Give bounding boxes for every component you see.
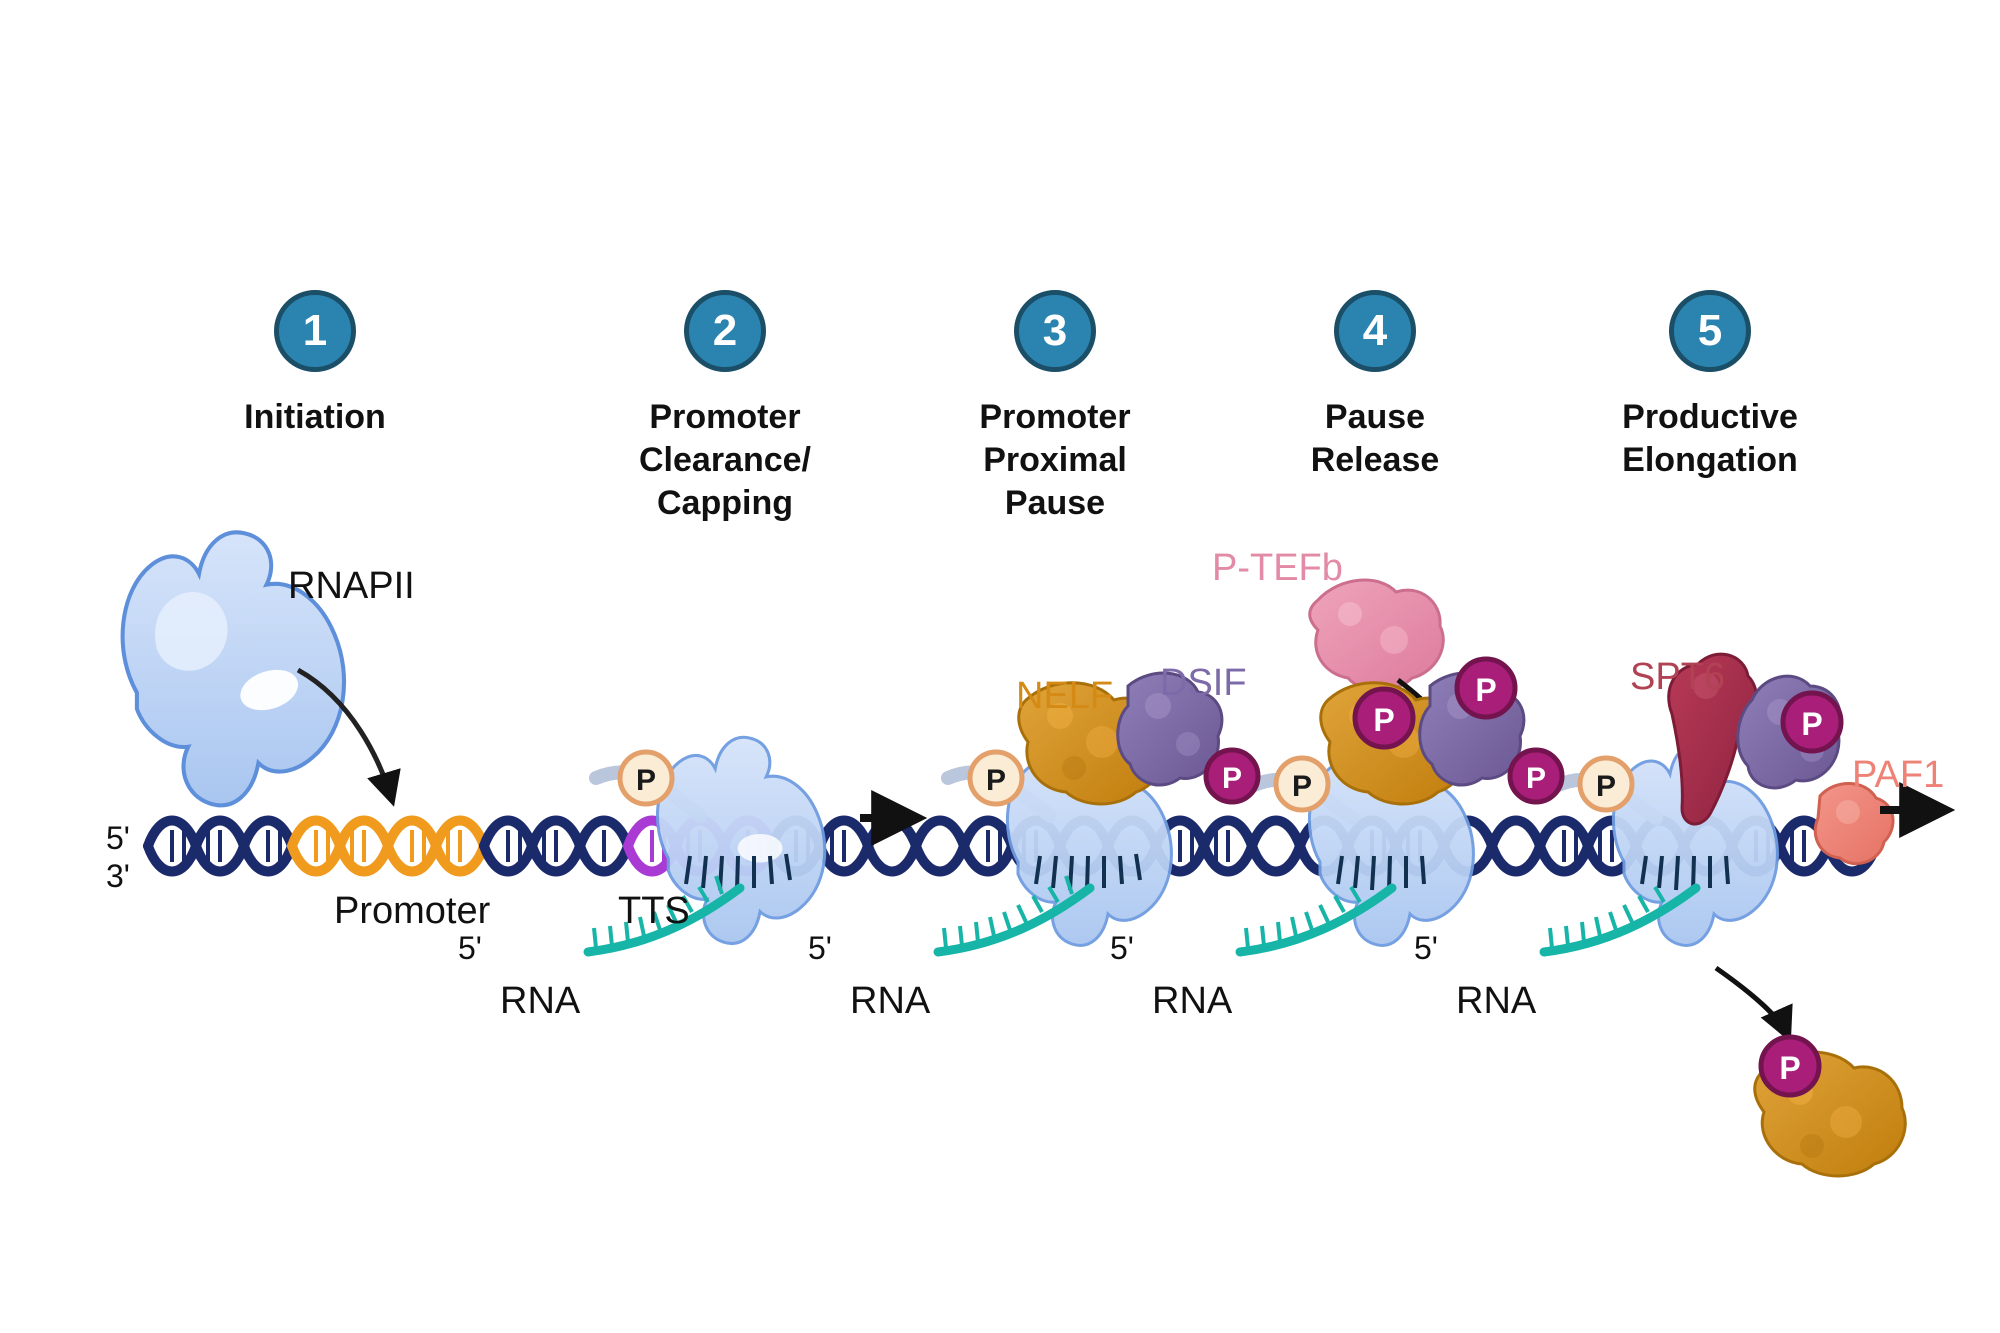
dna-segment-spacer	[484, 821, 628, 872]
svg-text:P: P	[1292, 770, 1312, 803]
rna-label-step-5: RNA	[1456, 980, 1536, 1023]
rna-label-step-2: RNA	[500, 980, 580, 1023]
rna-five-prime-step-5: 5'	[1414, 930, 1438, 967]
svg-text:P: P	[1596, 770, 1616, 803]
dsif-label: DSIF	[1160, 662, 1247, 705]
spt6-label: SPT6	[1630, 656, 1725, 699]
diagram-canvas: 1 Initiation 2 Promoter Clearance/ Cappi…	[0, 0, 2000, 1333]
svg-text:P: P	[986, 764, 1006, 797]
complex-step-5: P	[1544, 654, 1944, 1176]
svg-text:P: P	[1801, 706, 1822, 742]
rna-five-prime-step-4: 5'	[1110, 930, 1134, 967]
rna-five-prime-step-3: 5'	[808, 930, 832, 967]
svg-text:P: P	[1779, 1050, 1800, 1086]
ptefb-blob	[1310, 580, 1444, 690]
promoter-label: Promoter	[334, 890, 490, 933]
dna-three-prime-label: 3'	[106, 858, 130, 895]
phosphate-step-2: P	[620, 752, 672, 804]
svg-text:P: P	[1373, 702, 1394, 738]
rnapii-label: RNAPII	[288, 565, 415, 608]
tts-label: TTS	[618, 890, 690, 933]
ptefb-label: P-TEFb	[1212, 547, 1343, 590]
svg-text:P: P	[1222, 762, 1242, 795]
nelf-label: NELF	[1016, 675, 1113, 718]
arrow-nelf-release	[1716, 968, 1788, 1036]
phosphate-step-3: P	[970, 752, 1022, 804]
svg-text:P: P	[636, 764, 656, 797]
dna-five-prime-label: 5'	[106, 820, 130, 857]
svg-text:P: P	[1526, 762, 1546, 795]
dna-segment-upstream	[148, 821, 292, 872]
svg-text:P: P	[1475, 672, 1496, 708]
dna-segment-promoter	[292, 821, 484, 872]
rna-five-prime-step-2: 5'	[458, 930, 482, 967]
paf1-label: PAF1	[1852, 754, 1944, 797]
rna-label-step-4: RNA	[1152, 980, 1232, 1023]
rna-label-step-3: RNA	[850, 980, 930, 1023]
